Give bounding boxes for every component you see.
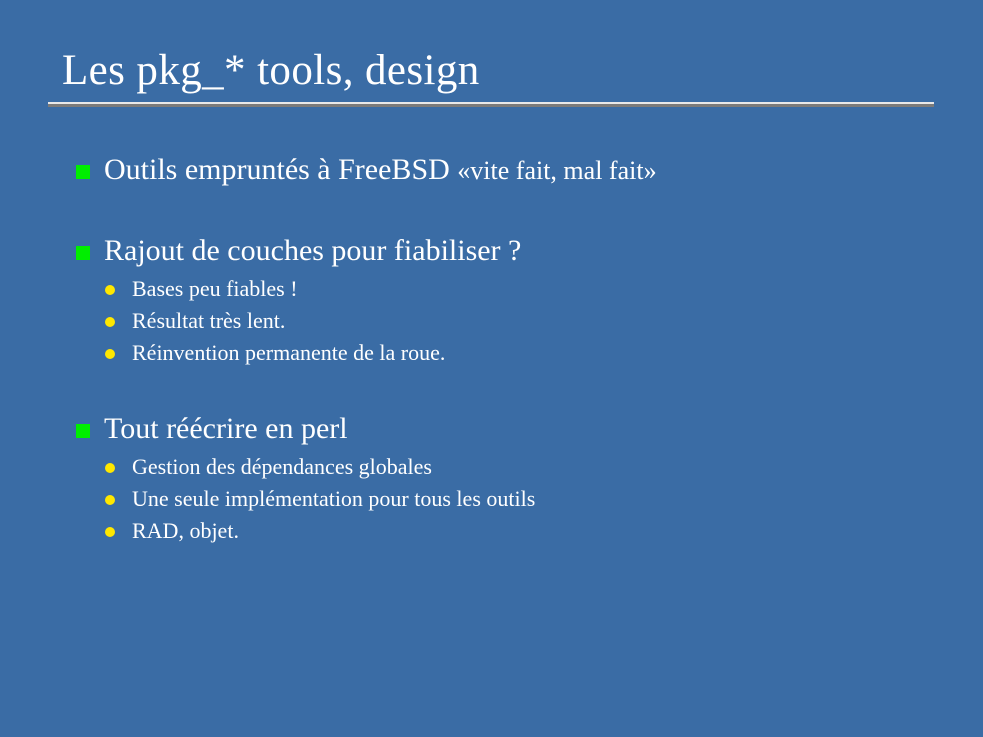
bullet-item-level2: Une seule implémentation pour tous les o… [60,483,960,515]
yellow-dot-bullet-icon [105,285,115,295]
slide-body: Outils empruntés à FreeBSD «vite fait, m… [60,150,960,547]
bullet-group: Rajout de couches pour fiabiliser ? Base… [60,231,960,369]
bullet-group: Tout réécrire en perl Gestion des dépend… [60,409,960,547]
bullet-item-level2: RAD, objet. [60,515,960,547]
bullet-item-level2-label: Réinvention permanente de la roue. [132,340,445,365]
yellow-dot-bullet-icon [105,495,115,505]
bullet-item-level2-label: Résultat très lent. [132,308,285,333]
yellow-dot-bullet-icon [105,349,115,359]
yellow-dot-bullet-icon [105,527,115,537]
bullet-item-level2-label: Gestion des dépendances globales [132,454,432,479]
bullet-item-level2-label: RAD, objet. [132,518,239,543]
bullet-item-level2: Bases peu fiables ! [60,273,960,305]
green-square-bullet-icon [76,424,90,438]
bullet-item-level2-label: Une seule implémentation pour tous les o… [132,486,535,511]
title-divider [48,102,934,107]
bullet-sublist: Gestion des dépendances globales Une seu… [60,451,960,547]
bullet-item-level1-label: Tout réécrire en perl [104,412,348,445]
bullet-item-level2: Réinvention permanente de la roue. [60,337,960,369]
bullet-item-level1: Rajout de couches pour fiabiliser ? [60,231,960,271]
bullet-item-level2: Résultat très lent. [60,305,960,337]
yellow-dot-bullet-icon [105,463,115,473]
bullet-item-level2: Gestion des dépendances globales [60,451,960,483]
bullet-item-level1: Tout réécrire en perl [60,409,960,449]
bullet-item-level1-label: Outils empruntés à FreeBSD [104,153,457,186]
bullet-item-level2-label: Bases peu fiables ! [132,276,298,301]
bullet-group: Outils empruntés à FreeBSD «vite fait, m… [60,150,960,191]
presentation-slide: Les pkg_* tools, design Outils empruntés… [0,0,983,737]
page-title: Les pkg_* tools, design [48,46,934,96]
green-square-bullet-icon [76,165,90,179]
bullet-item-level1-quote: «vite fait, mal fait» [457,156,656,185]
green-square-bullet-icon [76,246,90,260]
bullet-item-level1-label: Rajout de couches pour fiabiliser ? [104,234,521,267]
yellow-dot-bullet-icon [105,317,115,327]
bullet-sublist: Bases peu fiables ! Résultat très lent. … [60,273,960,369]
slide-title-block: Les pkg_* tools, design [48,46,934,107]
bullet-item-level1: Outils empruntés à FreeBSD «vite fait, m… [60,150,960,191]
